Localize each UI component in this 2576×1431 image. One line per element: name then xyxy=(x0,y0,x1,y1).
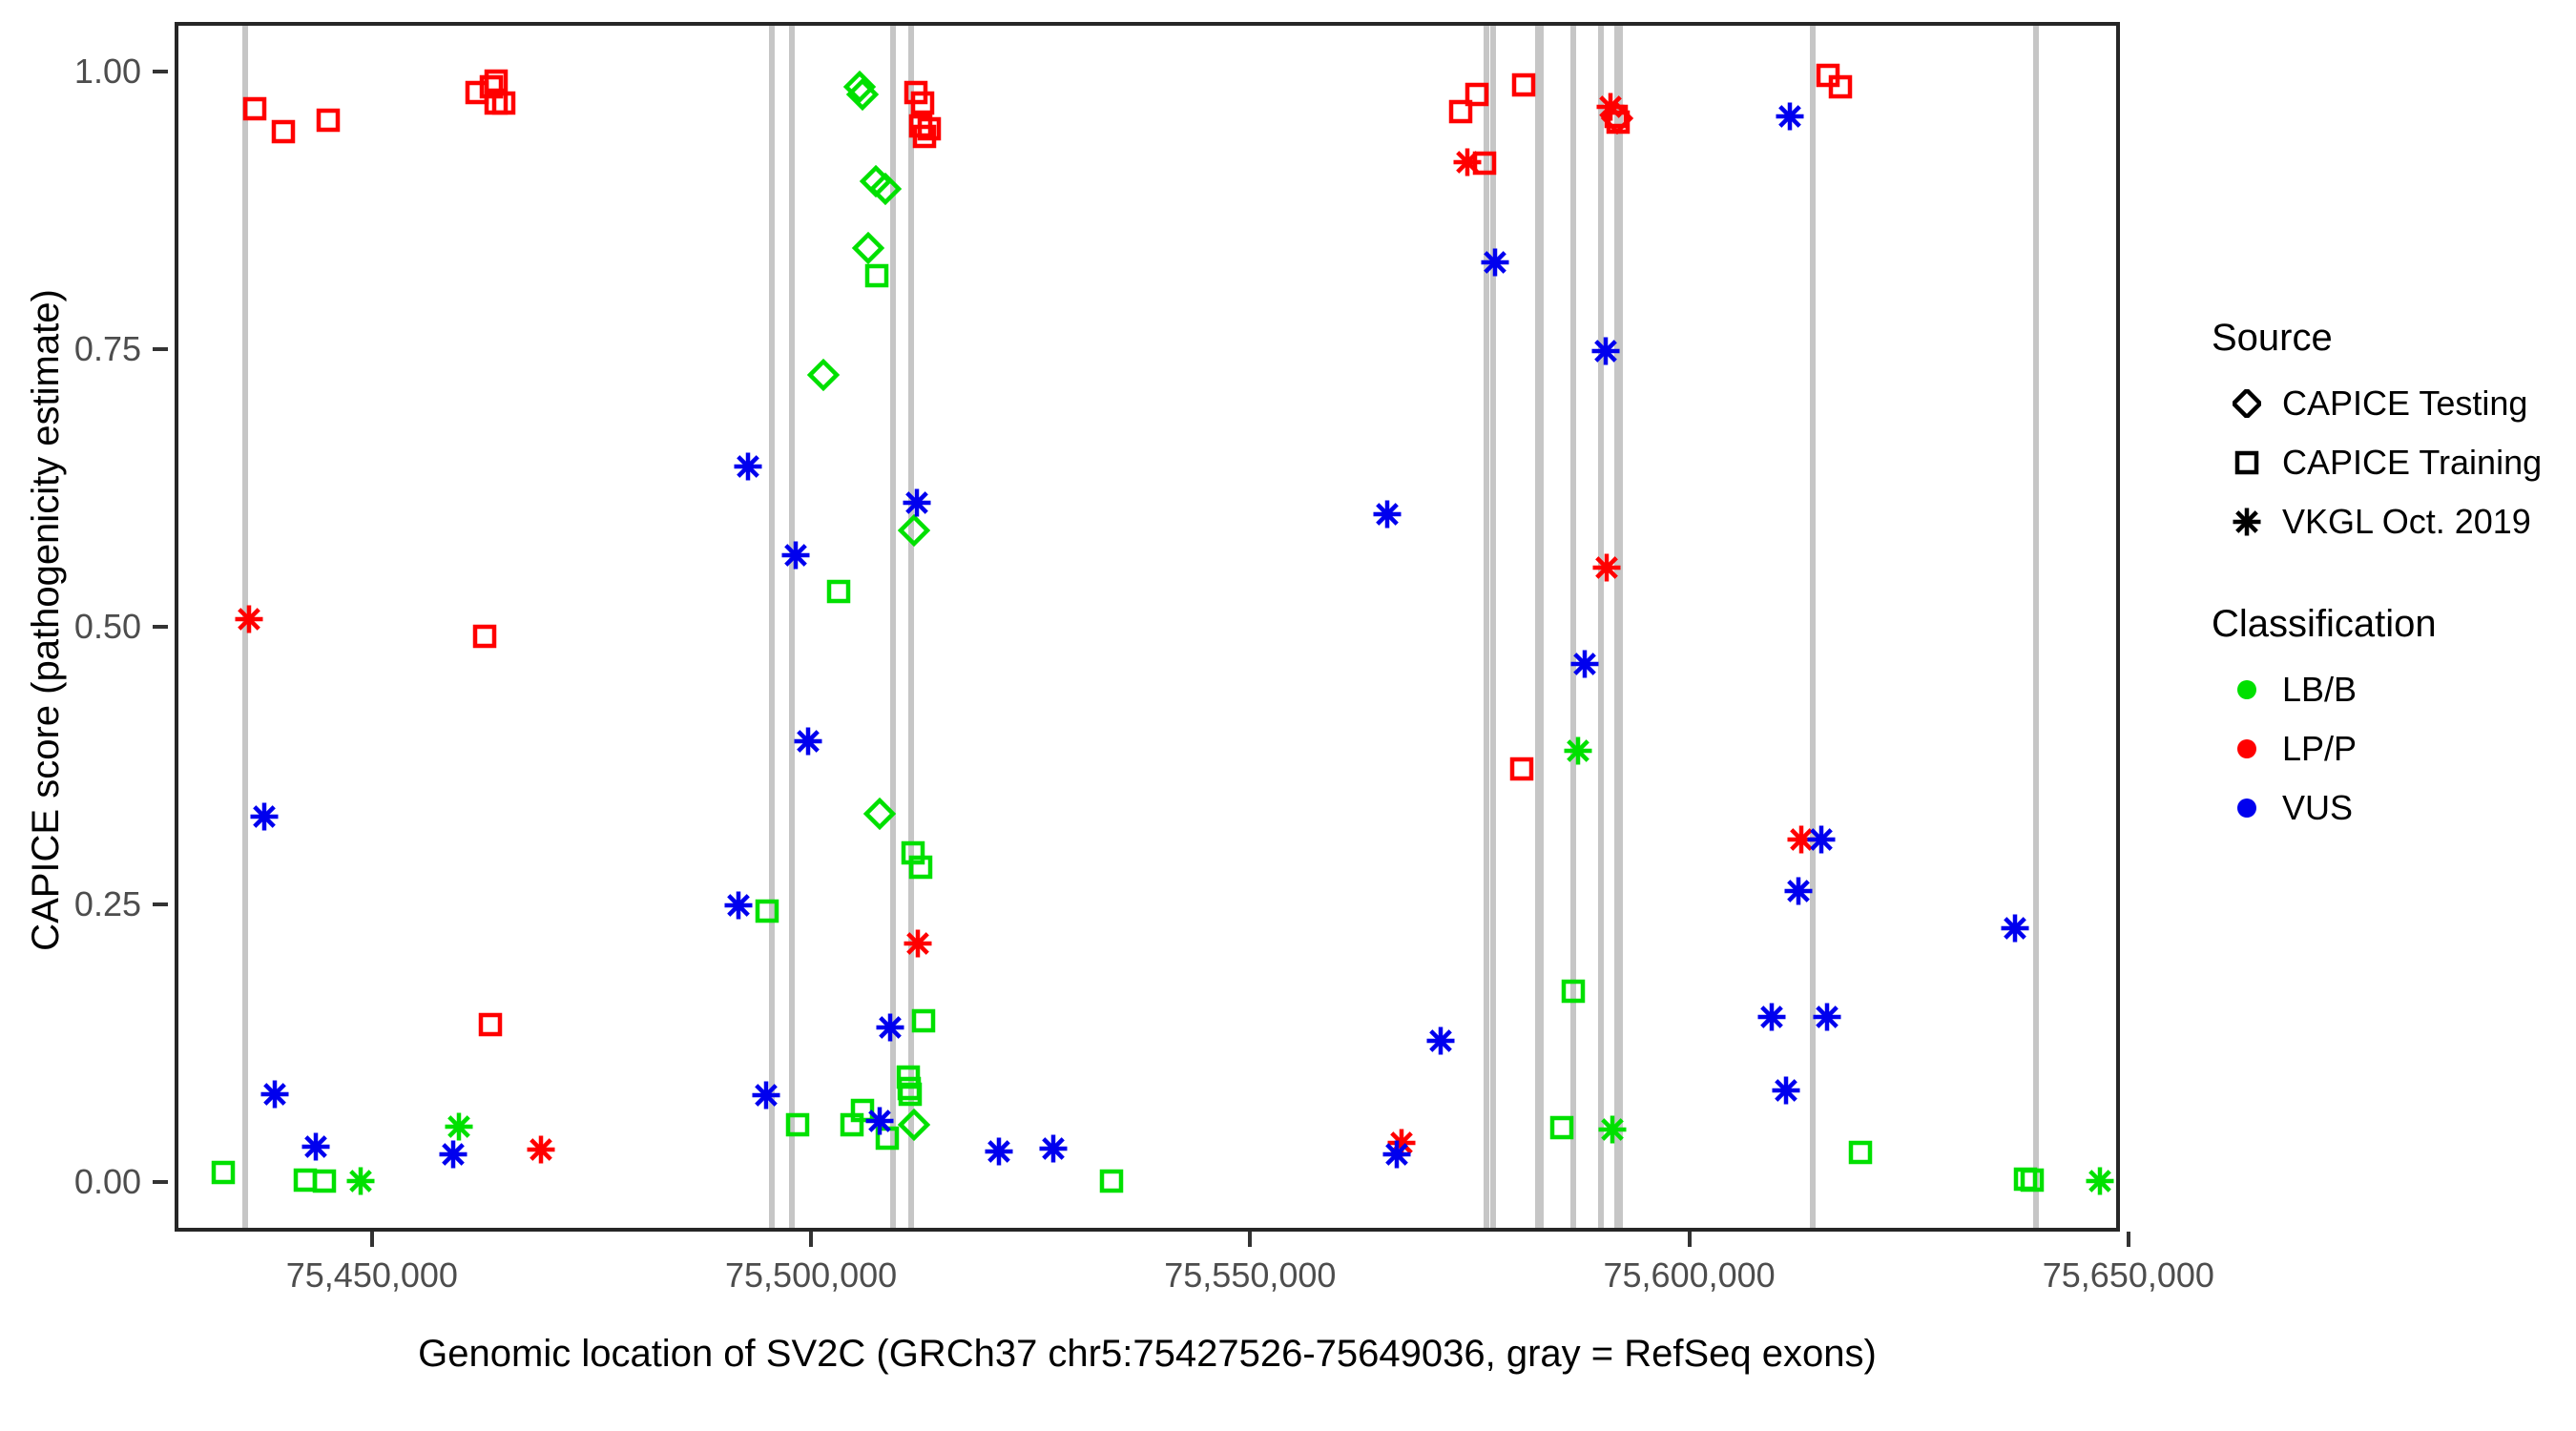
y-tick-mark xyxy=(153,1180,168,1184)
data-point xyxy=(838,1110,866,1139)
x-tick-label: 75,650,000 xyxy=(1985,1256,2272,1295)
data-point xyxy=(209,1158,238,1187)
exon-line xyxy=(1810,26,1816,1228)
exon-line xyxy=(1484,26,1489,1228)
data-point xyxy=(1813,1003,1841,1031)
legend-spacer xyxy=(2212,551,2576,601)
data-point xyxy=(734,452,762,481)
x-tick-mark xyxy=(370,1232,374,1247)
data-point xyxy=(1426,1027,1455,1055)
legend-source-item-row[interactable]: CAPICE Testing xyxy=(2212,374,2576,433)
data-point xyxy=(1382,1140,1411,1169)
data-point xyxy=(1373,500,1402,529)
exon-line xyxy=(1490,26,1496,1228)
x-tick-mark xyxy=(809,1232,813,1247)
data-point xyxy=(909,1006,938,1035)
data-point xyxy=(1591,337,1620,365)
exon-line xyxy=(908,26,914,1228)
square-icon xyxy=(2212,433,2282,492)
legend-classification-item-row[interactable]: LP/P xyxy=(2212,719,2576,778)
data-point xyxy=(1039,1134,1068,1163)
data-point xyxy=(310,1167,339,1195)
exon-line xyxy=(1598,26,1604,1228)
legend: Source CAPICE TestingCAPICE TrainingVKGL… xyxy=(2212,315,2576,838)
plot-area xyxy=(178,26,2116,1228)
data-point xyxy=(260,1080,289,1109)
data-point xyxy=(1846,1138,1875,1167)
data-point xyxy=(824,577,853,606)
data-point xyxy=(908,89,937,117)
data-point xyxy=(2001,914,2029,943)
data-point xyxy=(1776,102,1804,131)
data-point xyxy=(235,605,263,633)
data-point xyxy=(896,1080,924,1109)
y-tick-label: 0.50 xyxy=(8,610,141,644)
plot-panel xyxy=(175,22,2120,1232)
exon-line xyxy=(789,26,795,1228)
y-axis-ticks: 0.000.250.500.751.00 xyxy=(0,0,141,1431)
x-tick-label: 75,500,000 xyxy=(668,1256,954,1295)
legend-title-source: Source xyxy=(2212,315,2576,361)
data-point xyxy=(1757,1003,1786,1031)
data-point xyxy=(269,117,298,146)
data-point xyxy=(848,80,877,109)
legend-group-classification: LB/BLP/PVUS xyxy=(2212,660,2576,838)
data-point xyxy=(753,897,781,925)
data-point xyxy=(871,175,900,203)
data-point xyxy=(1548,1113,1576,1142)
data-point xyxy=(862,261,891,290)
data-point xyxy=(906,853,935,881)
data-point xyxy=(903,488,931,517)
data-point xyxy=(781,541,810,570)
legend-classification-item-label: LP/P xyxy=(2282,730,2357,768)
data-point xyxy=(1592,553,1621,582)
data-point xyxy=(1598,1115,1627,1144)
x-tick-mark xyxy=(1688,1232,1692,1247)
x-tick-mark xyxy=(2127,1232,2130,1247)
chart-root: CAPICE score (pathogenicity estimate) 0.… xyxy=(0,0,2576,1431)
data-point xyxy=(1097,1167,1126,1195)
data-point xyxy=(794,727,822,756)
data-point xyxy=(904,929,932,958)
legend-group-source: CAPICE TestingCAPICE TrainingVKGL Oct. 2… xyxy=(2212,374,2576,551)
legend-classification-item-row[interactable]: VUS xyxy=(2212,778,2576,838)
data-point xyxy=(470,622,499,651)
exon-line xyxy=(1570,26,1576,1228)
data-point xyxy=(1463,80,1491,109)
data-point xyxy=(809,361,838,389)
data-point xyxy=(250,802,279,831)
data-point xyxy=(1564,736,1592,765)
data-point xyxy=(783,1110,812,1139)
x-tick-label: 75,450,000 xyxy=(229,1256,515,1295)
diamond-icon xyxy=(2212,374,2282,433)
data-point xyxy=(1509,71,1538,99)
y-tick-mark xyxy=(153,625,168,629)
data-point xyxy=(1604,108,1632,136)
legend-source-item-row[interactable]: VKGL Oct. 2019 xyxy=(2212,492,2576,551)
data-point xyxy=(445,1112,473,1141)
y-tick-label: 0.25 xyxy=(8,887,141,922)
x-axis-ticks: 75,450,00075,500,00075,550,00075,600,000… xyxy=(175,1232,2120,1233)
data-point xyxy=(346,1167,375,1195)
exon-line xyxy=(1538,26,1544,1228)
data-point xyxy=(2018,1166,2046,1194)
y-tick-label: 0.00 xyxy=(8,1165,141,1199)
data-point xyxy=(476,1010,505,1039)
data-point xyxy=(915,114,944,143)
y-tick-mark xyxy=(153,347,168,351)
y-tick-label: 0.75 xyxy=(8,332,141,366)
data-point xyxy=(1470,149,1499,177)
data-point xyxy=(1507,755,1536,783)
legend-source-item-label: VKGL Oct. 2019 xyxy=(2282,503,2531,541)
data-point xyxy=(854,234,883,262)
data-point xyxy=(439,1140,467,1169)
legend-source-item-row[interactable]: CAPICE Training xyxy=(2212,433,2576,492)
x-tick-mark xyxy=(1248,1232,1252,1247)
exon-line xyxy=(890,26,896,1228)
data-point xyxy=(489,89,518,117)
legend-classification-item-row[interactable]: LB/B xyxy=(2212,660,2576,719)
dot-icon xyxy=(2212,660,2282,719)
legend-source-item-label: CAPICE Testing xyxy=(2282,384,2527,423)
data-point xyxy=(1784,877,1813,905)
data-point xyxy=(2086,1167,2114,1195)
data-point xyxy=(314,106,343,135)
y-tick-mark xyxy=(153,902,168,906)
x-tick-label: 75,600,000 xyxy=(1547,1256,1833,1295)
data-point xyxy=(865,1107,894,1135)
data-point xyxy=(1559,977,1588,1006)
y-tick-label: 1.00 xyxy=(8,54,141,89)
data-point xyxy=(985,1137,1013,1166)
data-point xyxy=(527,1135,555,1164)
data-point xyxy=(900,516,928,545)
legend-classification-item-label: LB/B xyxy=(2282,671,2357,709)
data-point xyxy=(865,799,894,828)
legend-source-item-label: CAPICE Training xyxy=(2282,444,2542,482)
x-axis-title: Genomic location of SV2C (GRCh37 chr5:75… xyxy=(175,1331,2120,1377)
legend-classification-item-label: VUS xyxy=(2282,789,2353,827)
data-point xyxy=(900,1110,928,1139)
dot-icon xyxy=(2212,778,2282,838)
dot-icon xyxy=(2212,719,2282,778)
data-point xyxy=(876,1013,904,1042)
exon-line xyxy=(1617,26,1623,1228)
asterisk-icon xyxy=(2212,492,2282,551)
data-point xyxy=(240,94,269,123)
y-tick-mark xyxy=(153,70,168,73)
data-point xyxy=(1481,248,1509,277)
exon-line xyxy=(2033,26,2039,1228)
x-tick-label: 75,550,000 xyxy=(1107,1256,1393,1295)
exon-line xyxy=(769,26,775,1228)
data-point xyxy=(301,1132,330,1161)
data-point xyxy=(724,891,753,920)
data-point xyxy=(1807,825,1836,854)
legend-title-classification: Classification xyxy=(2212,601,2576,647)
data-point xyxy=(752,1081,780,1110)
data-point xyxy=(1826,73,1855,101)
data-point xyxy=(1570,650,1599,678)
data-point xyxy=(1772,1076,1800,1105)
